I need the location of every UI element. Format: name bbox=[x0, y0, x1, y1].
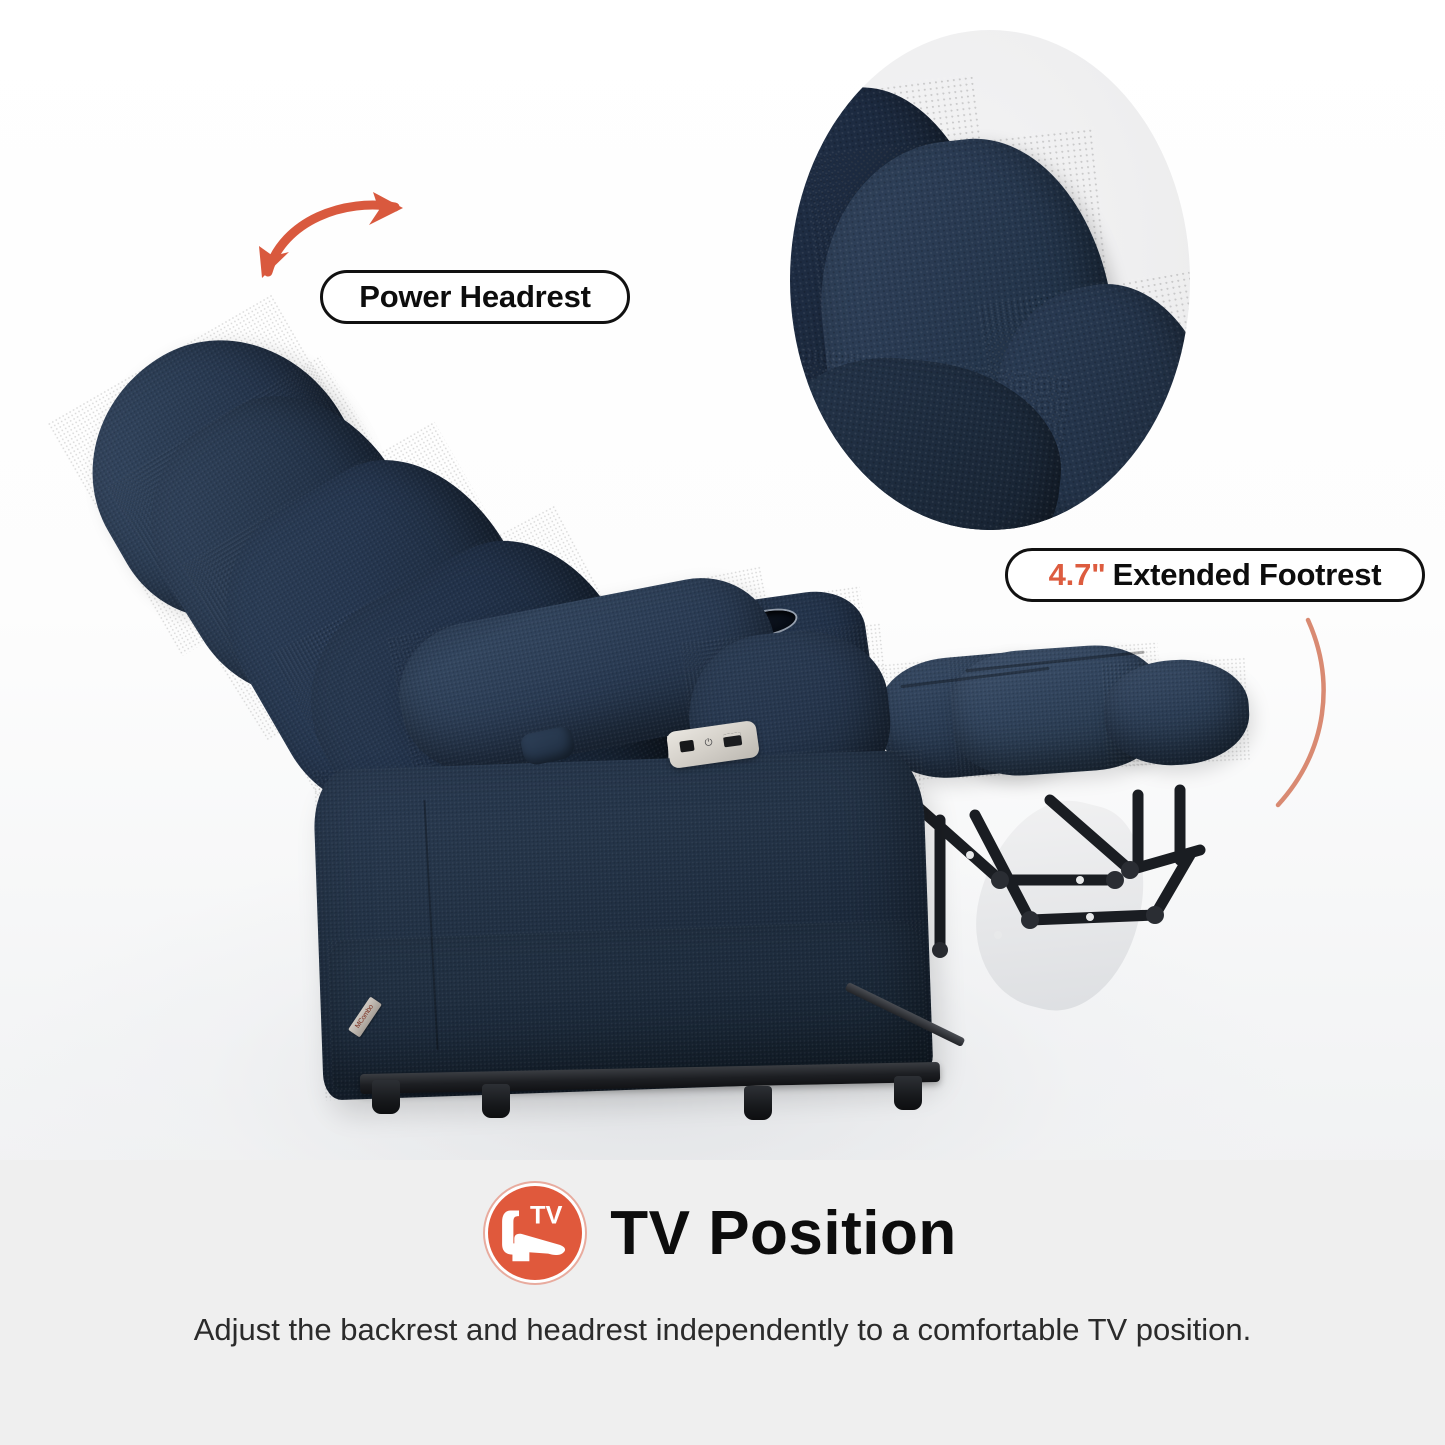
extended-footrest-arc-icon bbox=[1240, 600, 1370, 830]
power-headrest-label: Power Headrest bbox=[320, 270, 630, 324]
footrest-measurement-text: 4.7" bbox=[1049, 557, 1106, 593]
tv-position-heading-row: TV TV Position bbox=[0, 1186, 1445, 1280]
footrest-linkage-mechanism bbox=[880, 760, 1280, 1060]
tv-position-title: TV Position bbox=[610, 1198, 957, 1269]
base-foot bbox=[894, 1076, 922, 1110]
extended-footrest-label: 4.7" Extended Footrest bbox=[1005, 548, 1425, 602]
tv-position-icon: TV bbox=[488, 1186, 582, 1280]
base-foot bbox=[744, 1086, 772, 1120]
base-foot bbox=[372, 1080, 400, 1114]
recliner-chair-glyph-icon: TV bbox=[488, 1186, 582, 1280]
usb-port-icon[interactable] bbox=[723, 732, 743, 747]
tv-position-caption: Adjust the backrest and headrest indepen… bbox=[0, 1312, 1445, 1348]
extended-footrest-label-text: Extended Footrest bbox=[1113, 557, 1382, 593]
tv-badge-text: TV bbox=[530, 1202, 563, 1230]
product-feature-image: ⏻ MCombo Power Headrest 4.7" Extended Fo… bbox=[0, 0, 1445, 1445]
panel-logo-icon: ⏻ bbox=[700, 735, 718, 753]
base-foot bbox=[482, 1084, 510, 1118]
power-button-icon[interactable] bbox=[679, 740, 694, 753]
power-headrest-label-text: Power Headrest bbox=[359, 279, 591, 315]
